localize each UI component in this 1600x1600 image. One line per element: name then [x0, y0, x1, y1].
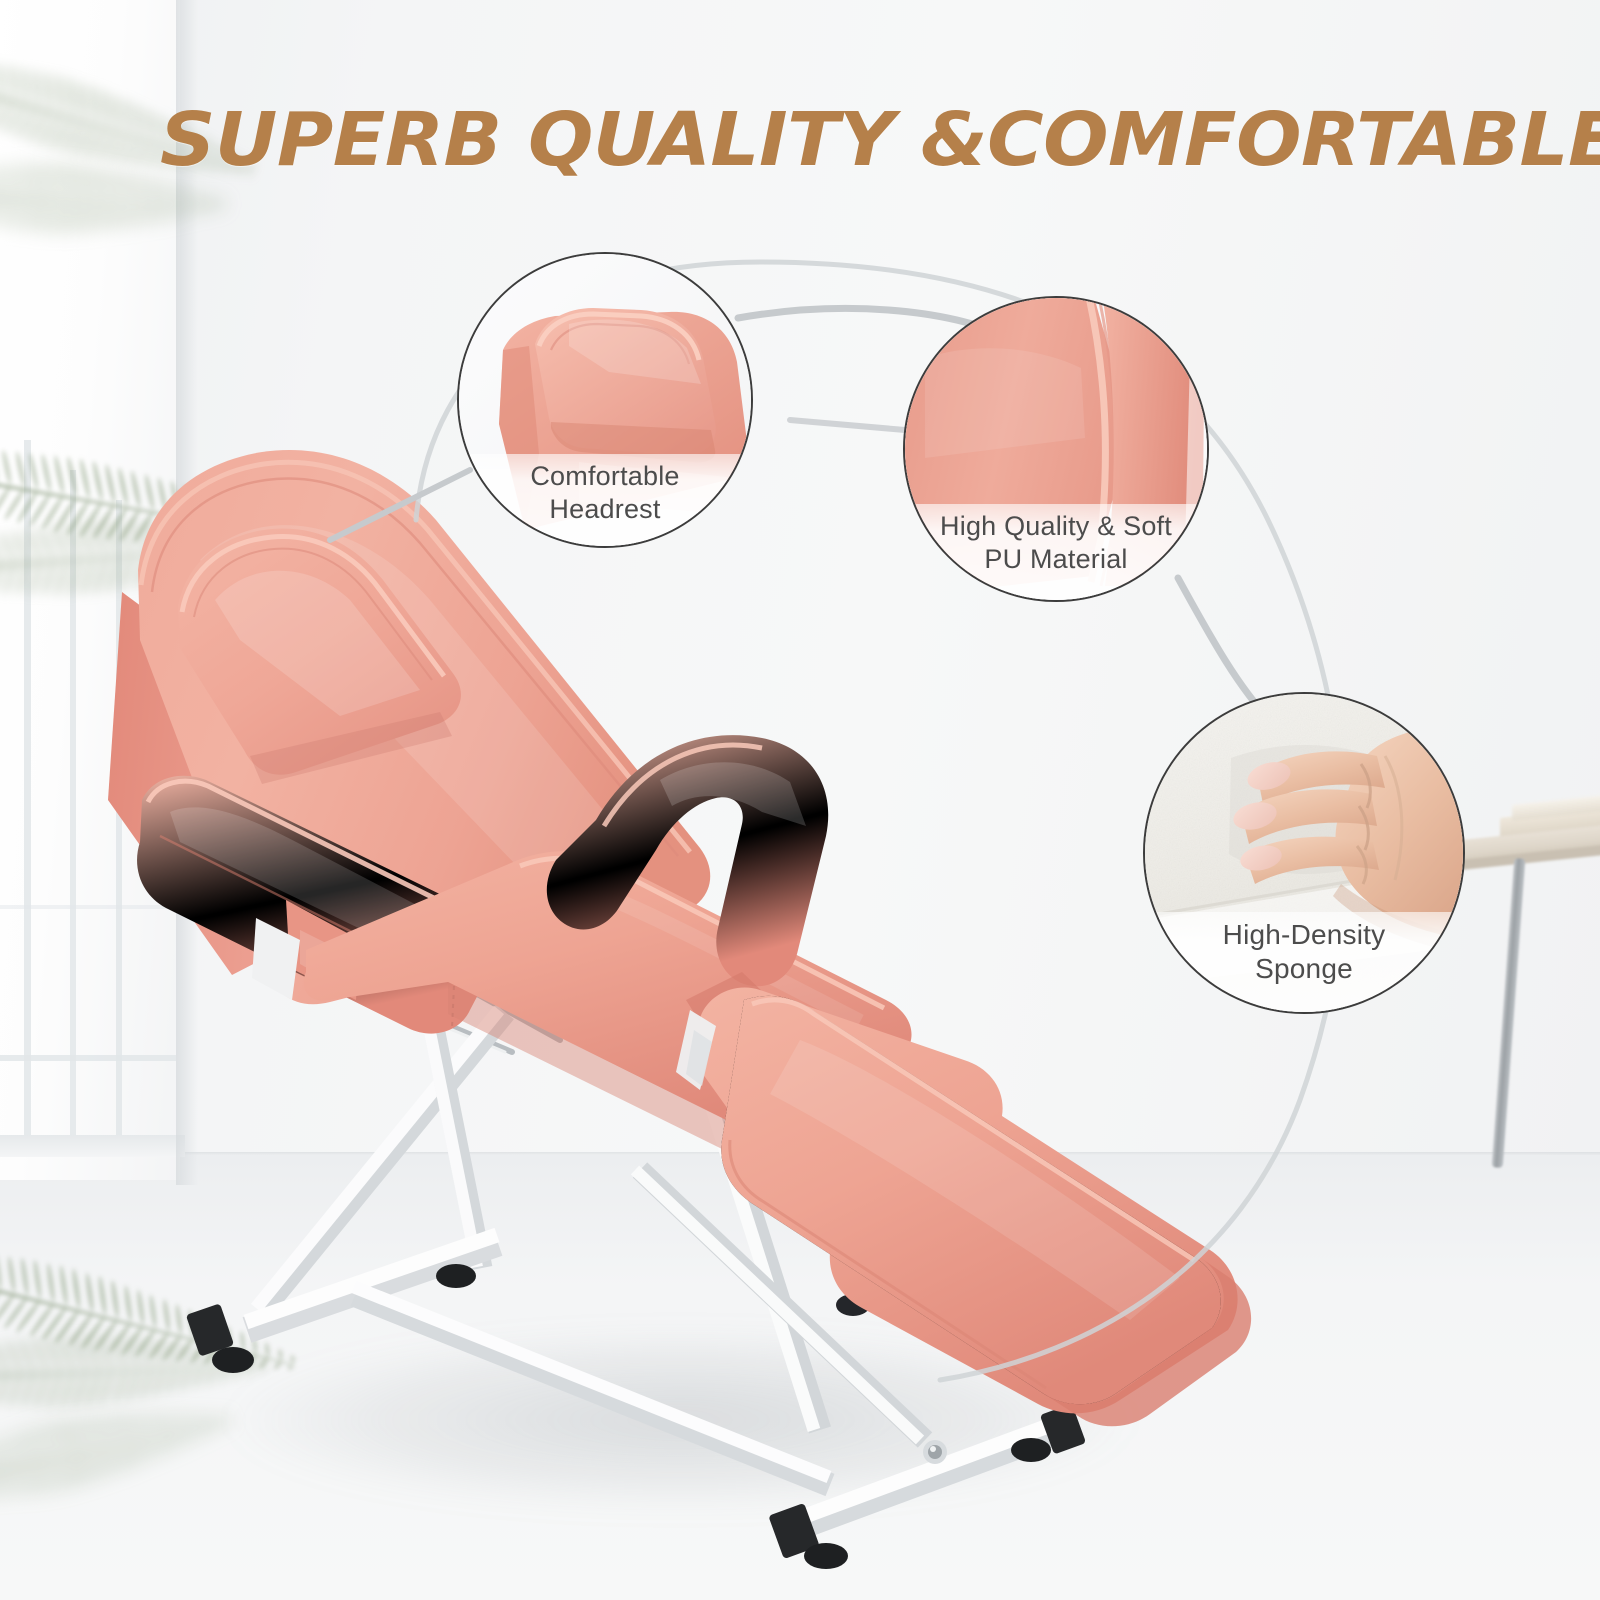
- callout-label-line2: PU Material: [984, 543, 1127, 576]
- callout-label-line1: High Quality & Soft: [940, 510, 1172, 543]
- callout-label-line1: Comfortable: [530, 460, 679, 493]
- product-scene: Comfortable Headrest: [0, 0, 1600, 1600]
- chair-legrest: [676, 972, 1251, 1426]
- callout-label-line1: High-Density: [1223, 918, 1386, 952]
- page-title: SUPERB QUALITY &COMFORTABLE: [160, 94, 1512, 186]
- callout-label-line2: Headrest: [549, 493, 660, 526]
- callout-pu-material[interactable]: High Quality & Soft PU Material: [903, 296, 1209, 602]
- callout-label: Comfortable Headrest: [459, 454, 751, 546]
- callout-label: High-Density Sponge: [1145, 912, 1463, 1012]
- callout-label: High Quality & Soft PU Material: [905, 504, 1207, 600]
- callout-comfortable-headrest[interactable]: Comfortable Headrest: [457, 252, 753, 548]
- callout-label-line2: Sponge: [1255, 952, 1353, 986]
- callout-high-density-sponge[interactable]: High-Density Sponge: [1143, 692, 1465, 1014]
